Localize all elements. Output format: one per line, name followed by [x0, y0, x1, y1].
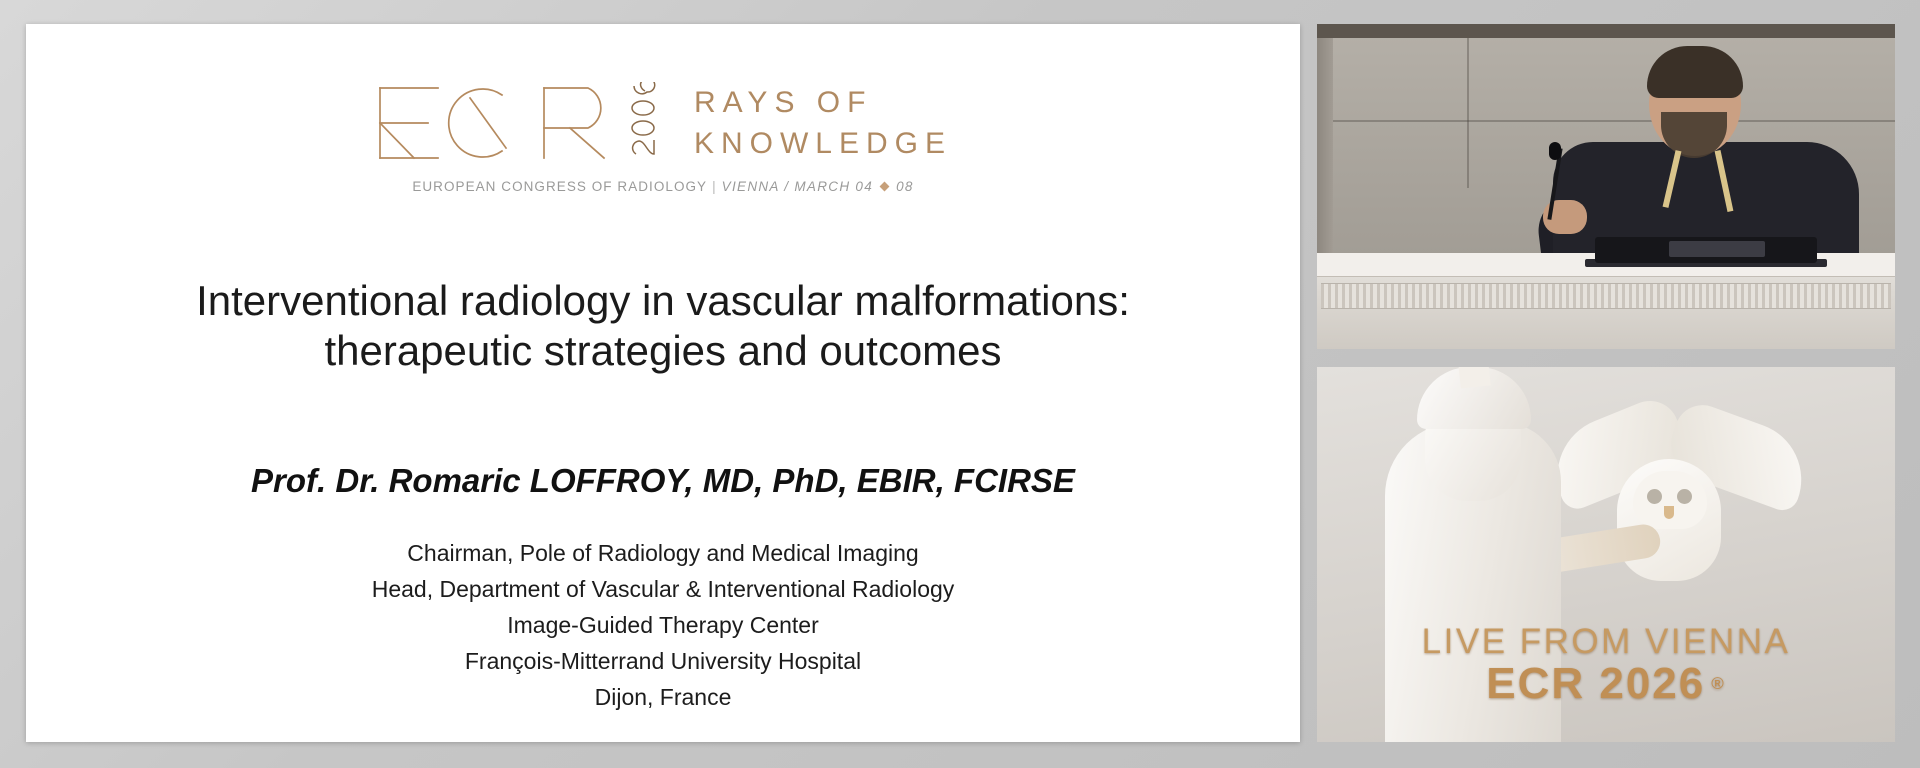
speaker-name: Prof. Dr. Romaric LOFFROY, MD, PhD, EBIR… — [86, 462, 1240, 500]
rays-line-2: KNOWLEDGE — [694, 123, 952, 164]
rays-of-knowledge-text: RAYS OF KNOWLEDGE — [694, 82, 952, 165]
owl-eye-right — [1677, 489, 1692, 504]
wall-column — [1317, 38, 1333, 253]
affiliation-line: Image-Guided Therapy Center — [86, 608, 1240, 644]
speaker-affiliation: Chairman, Pole of Radiology and Medical … — [86, 536, 1240, 715]
owl-eye-left — [1647, 489, 1662, 504]
wall-seam — [1467, 38, 1469, 188]
affiliation-line: Head, Department of Vascular & Intervent… — [86, 572, 1240, 608]
wall-seam — [1317, 120, 1895, 122]
affiliation-line: François-Mitterrand University Hospital — [86, 644, 1240, 680]
tagline-main: EUROPEAN CONGRESS OF RADIOLOGY — [412, 179, 707, 194]
rays-line-1: RAYS OF — [694, 82, 952, 123]
slide-canvas: RAYS OF KNOWLEDGE EUROPEAN CONGRESS OF R… — [26, 24, 1300, 742]
presenter-camera-feed[interactable] — [1317, 24, 1895, 349]
logo-row: RAYS OF KNOWLEDGE — [374, 82, 952, 165]
tagline-separator: | — [712, 179, 717, 194]
congress-emblem-feed[interactable]: LIVE FROM VIENNA ECR 2026 ® — [1317, 367, 1895, 742]
slide-title-line-2: therapeutic strategies and outcomes — [86, 326, 1240, 376]
affiliation-line: Dijon, France — [86, 680, 1240, 716]
microphone-icon — [1549, 142, 1561, 160]
tagline-location: VIENNA / MARCH 04 — [722, 179, 873, 194]
ecr-logo-block: RAYS OF KNOWLEDGE EUROPEAN CONGRESS OF R… — [26, 82, 1300, 194]
affiliation-line: Chairman, Pole of Radiology and Medical … — [86, 536, 1240, 572]
presentation-viewer: RAYS OF KNOWLEDGE EUROPEAN CONGRESS OF R… — [0, 0, 1920, 768]
congress-tagline: EUROPEAN CONGRESS OF RADIOLOGY | VIENNA … — [412, 179, 913, 194]
confidence-monitor — [1669, 241, 1765, 257]
owl-face — [1633, 471, 1707, 529]
slide-title: Interventional radiology in vascular mal… — [86, 276, 1240, 375]
owl-beak — [1664, 506, 1674, 519]
slide-title-line-1: Interventional radiology in vascular mal… — [86, 276, 1240, 326]
ceiling-band — [1317, 24, 1895, 38]
lectern-grille — [1321, 283, 1891, 309]
registered-trademark-icon: ® — [1711, 675, 1726, 693]
statue-helmet-crest — [1457, 367, 1490, 388]
diamond-separator-icon — [880, 181, 890, 191]
ecr-wordmark-icon — [374, 82, 674, 164]
lectern — [1317, 253, 1895, 349]
tagline-date-end: 08 — [896, 179, 914, 194]
